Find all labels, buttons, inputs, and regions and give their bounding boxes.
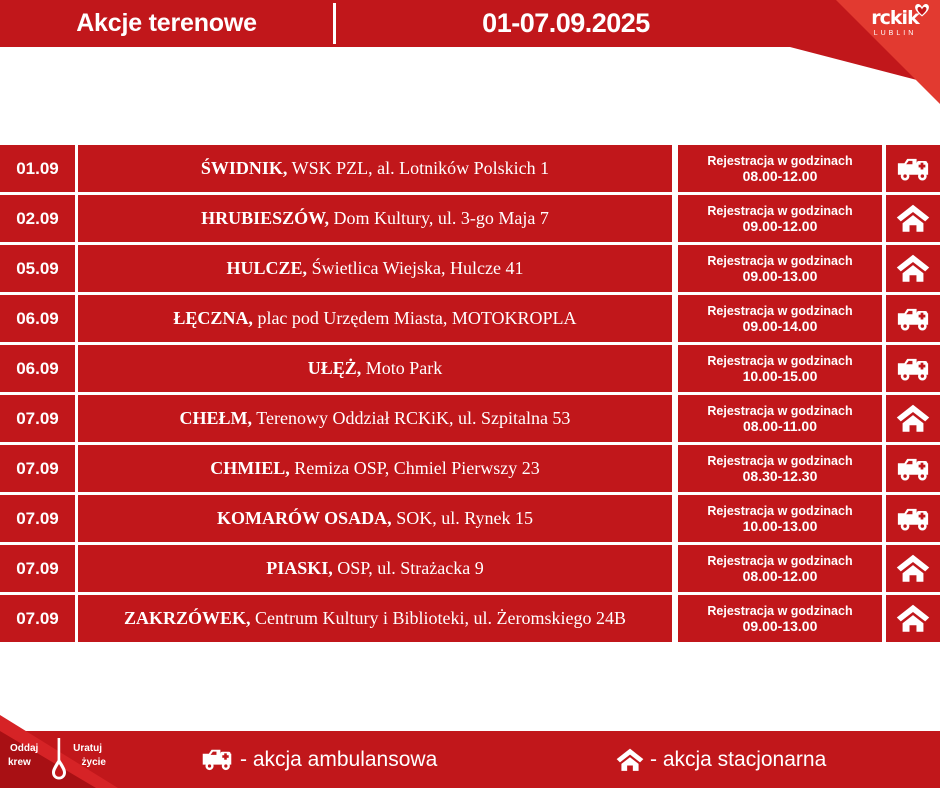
row-reg-label: Rejestracja w godzinach (707, 504, 852, 519)
house-icon (896, 204, 930, 233)
row-registration: Rejestracja w godzinach10.00-13.00 (678, 495, 882, 542)
row-reg-hours: 09.00-13.00 (743, 619, 818, 634)
row-date: 02.09 (0, 195, 75, 242)
house-icon (896, 604, 930, 633)
table-row: 06.09UŁĘŻ, Moto ParkRejestracja w godzin… (0, 345, 940, 392)
row-reg-label: Rejestracja w godzinach (707, 304, 852, 319)
row-reg-label: Rejestracja w godzinach (707, 554, 852, 569)
row-location: PIASKI, OSP, ul. Strażacka 9 (78, 545, 672, 592)
row-registration: Rejestracja w godzinach09.00-13.00 (678, 245, 882, 292)
row-registration: Rejestracja w godzinach09.00-12.00 (678, 195, 882, 242)
date-range: 01-07.09.2025 (336, 0, 796, 47)
page-title: Akcje terenowe (0, 0, 333, 47)
row-date: 06.09 (0, 295, 75, 342)
row-registration: Rejestracja w godzinach08.00-12.00 (678, 145, 882, 192)
row-reg-hours: 08.00-12.00 (743, 169, 818, 184)
table-row: 02.09HRUBIESZÓW, Dom Kultury, ul. 3-go M… (0, 195, 940, 242)
row-registration: Rejestracja w godzinach08.30-12.30 (678, 445, 882, 492)
row-registration: Rejestracja w godzinach08.00-12.00 (678, 545, 882, 592)
row-city: HULCZE, (227, 258, 308, 278)
row-type-icon (886, 445, 940, 492)
row-place: SOK, ul. Rynek 15 (396, 508, 533, 528)
oddaj-krew-line2: krew (8, 757, 31, 768)
row-city: ZAKRZÓWEK, (124, 608, 251, 628)
ambulance-icon (200, 747, 234, 771)
legend: - akcja ambulansowa- akcja stacjonarna (0, 731, 940, 788)
row-city: UŁĘŻ, (308, 358, 362, 378)
row-type-icon (886, 495, 940, 542)
table-row: 07.09PIASKI, OSP, ul. Strażacka 9Rejestr… (0, 545, 940, 592)
row-date: 06.09 (0, 345, 75, 392)
house-icon (896, 254, 930, 283)
legend-item: - akcja ambulansowa (200, 747, 437, 771)
row-registration: Rejestracja w godzinach08.00-11.00 (678, 395, 882, 442)
row-city: HRUBIESZÓW, (201, 208, 329, 228)
row-location: ŁĘCZNA, plac pod Urzędem Miasta, MOTOKRO… (78, 295, 672, 342)
row-date: 01.09 (0, 145, 75, 192)
row-city: PIASKI, (266, 558, 333, 578)
table-row: 07.09CHMIEL, Remiza OSP, Chmiel Pierwszy… (0, 445, 940, 492)
ambulance-icon (895, 156, 931, 182)
row-location: ZAKRZÓWEK, Centrum Kultury i Biblioteki,… (78, 595, 672, 642)
table-row: 06.09ŁĘCZNA, plac pod Urzędem Miasta, MO… (0, 295, 940, 342)
row-reg-label: Rejestracja w godzinach (707, 154, 852, 169)
legend-label: - akcja ambulansowa (240, 748, 437, 772)
ambulance-icon (895, 456, 931, 482)
table-row: 07.09CHEŁM, Terenowy Oddział RCKiK, ul. … (0, 395, 940, 442)
house-icon (616, 748, 644, 772)
table-row: 01.09ŚWIDNIK, WSK PZL, al. Lotników Pols… (0, 145, 940, 192)
house-icon (896, 404, 930, 433)
row-date: 05.09 (0, 245, 75, 292)
oddaj-krew-logo: Oddaj krew Uratuj życie (6, 734, 110, 782)
legend-item: - akcja stacjonarna (616, 748, 826, 772)
row-reg-label: Rejestracja w godzinach (707, 354, 852, 369)
house-icon (896, 554, 930, 583)
rckik-logo-subtitle: LUBLIN (860, 29, 930, 39)
row-type-icon (886, 145, 940, 192)
row-reg-hours: 09.00-12.00 (743, 219, 818, 234)
row-location: ŚWIDNIK, WSK PZL, al. Lotników Polskich … (78, 145, 672, 192)
row-type-icon (886, 395, 940, 442)
blood-drop-icon (50, 736, 68, 780)
row-reg-hours: 10.00-15.00 (743, 369, 818, 384)
row-reg-label: Rejestracja w godzinach (707, 604, 852, 619)
row-place: Moto Park (366, 358, 443, 378)
row-type-icon (886, 195, 940, 242)
events-table: 01.09ŚWIDNIK, WSK PZL, al. Lotników Pols… (0, 145, 940, 645)
row-place: Terenowy Oddział RCKiK, ul. Szpitalna 53 (256, 408, 570, 428)
row-place: Dom Kultury, ul. 3-go Maja 7 (334, 208, 549, 228)
row-reg-label: Rejestracja w godzinach (707, 454, 852, 469)
legend-label: - akcja stacjonarna (650, 748, 826, 772)
row-reg-label: Rejestracja w godzinach (707, 404, 852, 419)
ambulance-icon (895, 356, 931, 382)
row-reg-hours: 09.00-14.00 (743, 319, 818, 334)
row-place: Remiza OSP, Chmiel Pierwszy 23 (294, 458, 540, 478)
row-location: KOMARÓW OSADA, SOK, ul. Rynek 15 (78, 495, 672, 542)
row-type-icon (886, 545, 940, 592)
table-row: 07.09KOMARÓW OSADA, SOK, ul. Rynek 15Rej… (0, 495, 940, 542)
row-city: ŁĘCZNA, (173, 308, 253, 328)
row-date: 07.09 (0, 395, 75, 442)
row-date: 07.09 (0, 445, 75, 492)
row-date: 07.09 (0, 595, 75, 642)
row-location: CHMIEL, Remiza OSP, Chmiel Pierwszy 23 (78, 445, 672, 492)
row-registration: Rejestracja w godzinach10.00-15.00 (678, 345, 882, 392)
row-type-icon (886, 245, 940, 292)
row-location: UŁĘŻ, Moto Park (78, 345, 672, 392)
row-type-icon (886, 295, 940, 342)
ambulance-icon (895, 306, 931, 332)
row-registration: Rejestracja w godzinach09.00-14.00 (678, 295, 882, 342)
row-date: 07.09 (0, 495, 75, 542)
row-reg-hours: 08.00-12.00 (743, 569, 818, 584)
poster: Akcje terenowe 01-07.09.2025 rckik LUBLI… (0, 0, 940, 788)
row-reg-hours: 08.00-11.00 (743, 419, 817, 434)
row-date: 07.09 (0, 545, 75, 592)
row-city: ŚWIDNIK, (201, 158, 288, 178)
oddaj-krew-line1: Oddaj (10, 743, 38, 754)
ambulance-icon (895, 506, 931, 532)
row-type-icon (886, 345, 940, 392)
row-reg-hours: 09.00-13.00 (743, 269, 818, 284)
row-registration: Rejestracja w godzinach09.00-13.00 (678, 595, 882, 642)
row-reg-label: Rejestracja w godzinach (707, 204, 852, 219)
uratuj-zycie-line1: Uratuj (73, 743, 102, 754)
row-location: CHEŁM, Terenowy Oddział RCKiK, ul. Szpit… (78, 395, 672, 442)
table-row: 05.09HULCZE, Świetlica Wiejska, Hulcze 4… (0, 245, 940, 292)
row-type-icon (886, 595, 940, 642)
row-city: CHEŁM, (180, 408, 253, 428)
heart-drop-icon (914, 2, 930, 17)
uratuj-zycie-line2: życie (82, 757, 106, 768)
row-reg-hours: 10.00-13.00 (743, 519, 818, 534)
row-place: WSK PZL, al. Lotników Polskich 1 (292, 158, 550, 178)
row-place: OSP, ul. Strażacka 9 (337, 558, 483, 578)
row-location: HULCZE, Świetlica Wiejska, Hulcze 41 (78, 245, 672, 292)
row-reg-hours: 08.30-12.30 (743, 469, 818, 484)
row-place: plac pod Urzędem Miasta, MOTOKROPLA (257, 308, 576, 328)
row-city: KOMARÓW OSADA, (217, 508, 392, 528)
row-city: CHMIEL, (210, 458, 290, 478)
row-reg-label: Rejestracja w godzinach (707, 254, 852, 269)
row-location: HRUBIESZÓW, Dom Kultury, ul. 3-go Maja 7 (78, 195, 672, 242)
table-row: 07.09ZAKRZÓWEK, Centrum Kultury i Biblio… (0, 595, 940, 642)
row-place: Centrum Kultury i Biblioteki, ul. Żeroms… (255, 608, 626, 628)
row-place: Świetlica Wiejska, Hulcze 41 (312, 258, 524, 278)
